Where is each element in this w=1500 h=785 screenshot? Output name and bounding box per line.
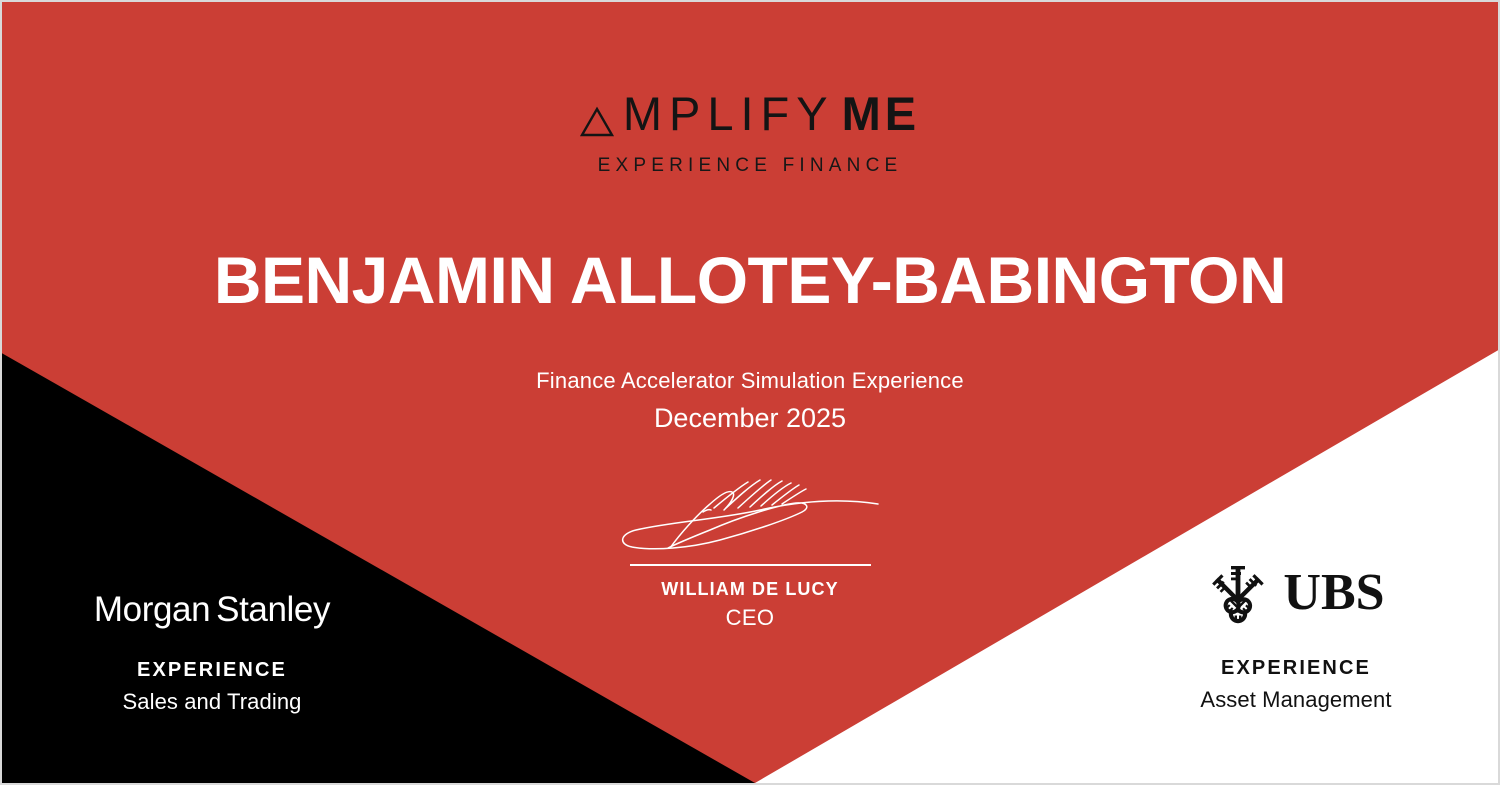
partner-track-left: Sales and Trading: [2, 689, 422, 715]
brand-wordmark-bold: ME: [842, 90, 921, 137]
partner-track-right: Asset Management: [1086, 687, 1500, 713]
ubs-three-keys-icon: [1207, 560, 1269, 626]
brand-logo: MPLIFY ME EXPERIENCE FINANCE: [2, 90, 1498, 177]
signature-block: WILLIAM DE LUCY CEO: [600, 472, 900, 631]
handwritten-signature-icon: [610, 472, 890, 560]
certificate: MPLIFY ME EXPERIENCE FINANCE BENJAMIN AL…: [0, 0, 1500, 785]
brand-wordmark-light: MPLIFY: [623, 90, 835, 137]
triangle-a-icon: [580, 99, 614, 133]
partner-block-morgan-stanley: MorganStanley EXPERIENCE Sales and Tradi…: [2, 592, 422, 715]
brand-tagline: EXPERIENCE FINANCE: [2, 155, 1498, 177]
programme-date: December 2025: [2, 403, 1498, 434]
recipient-name: BENJAMIN ALLOTEY-BABINGTON: [2, 242, 1498, 318]
signatory-role: CEO: [600, 605, 900, 631]
partner-experience-label-left: EXPERIENCE: [2, 659, 422, 682]
programme-title: Finance Accelerator Simulation Experienc…: [2, 368, 1498, 394]
signature-rule: [630, 564, 871, 566]
brand-wordmark: MPLIFY ME: [580, 90, 920, 137]
partner-experience-label-right: EXPERIENCE: [1086, 657, 1500, 680]
ubs-logo: UBS: [1086, 557, 1500, 629]
ubs-wordmark: UBS: [1283, 567, 1384, 619]
programme-details: Finance Accelerator Simulation Experienc…: [2, 368, 1498, 434]
morgan-stanley-logo: MorganStanley: [2, 592, 422, 627]
partner-block-ubs: UBS EXPERIENCE Asset Management: [1086, 557, 1500, 713]
morgan-stanley-logo-first: Morgan: [94, 590, 210, 629]
signatory-name: WILLIAM DE LUCY: [600, 579, 900, 600]
morgan-stanley-logo-second: Stanley: [216, 590, 330, 629]
